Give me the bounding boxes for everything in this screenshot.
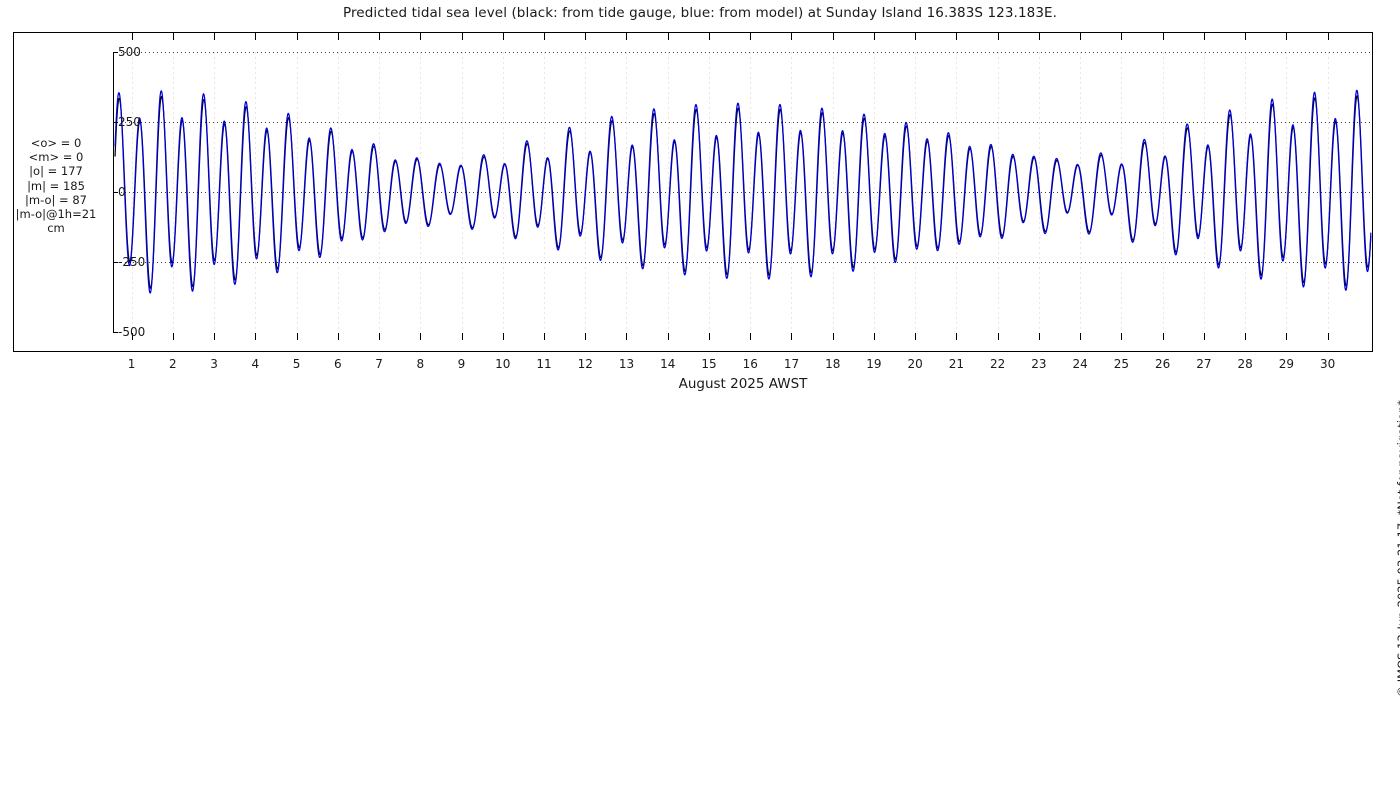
x-tick-mark (503, 333, 504, 340)
copyright-notice: © IMOS 13-Jun-2025 03:21:17. *Not for na… (1379, 0, 1399, 400)
x-tick-mark (1328, 333, 1329, 340)
x-tick-mark-top (915, 33, 916, 40)
x-tick-mark-top (998, 33, 999, 40)
x-tick-label: 4 (251, 357, 259, 371)
x-tick-mark (420, 333, 421, 340)
x-tick-mark (668, 333, 669, 340)
x-tick-mark-top (874, 33, 875, 40)
x-tick-label: 27 (1196, 357, 1211, 371)
x-tick-mark (379, 333, 380, 340)
x-tick-mark-top (1080, 33, 1081, 40)
y-tick-label: 250 (118, 115, 141, 129)
x-tick-mark-top (750, 33, 751, 40)
y-tick-label: 500 (118, 45, 141, 59)
x-tick-mark-top (1163, 33, 1164, 40)
x-tick-mark-top (791, 33, 792, 40)
x-tick-mark (956, 333, 957, 340)
stat-line-mean-mod: <m> = 0 (0, 150, 112, 164)
x-tick-label: 16 (743, 357, 758, 371)
page-title: Predicted tidal sea level (black: from t… (0, 5, 1400, 21)
stat-line-abs-obs: |o| = 177 (0, 164, 112, 178)
y-tick-label: -250 (118, 255, 145, 269)
x-tick-mark-top (544, 33, 545, 40)
x-tick-mark (1121, 333, 1122, 340)
chart-page: Predicted tidal sea level (black: from t… (0, 0, 1400, 400)
x-tick-mark-top (255, 33, 256, 40)
x-tick-label: 13 (619, 357, 634, 371)
x-tick-mark-top (1245, 33, 1246, 40)
stat-line-abs-mod: |m| = 185 (0, 179, 112, 193)
x-tick-mark-top (297, 33, 298, 40)
x-tick-mark-top (132, 33, 133, 40)
x-tick-label: 5 (293, 357, 301, 371)
x-tick-label: 17 (784, 357, 799, 371)
x-tick-label: 14 (660, 357, 675, 371)
x-tick-mark-top (1204, 33, 1205, 40)
x-tick-label: 3 (210, 357, 218, 371)
x-tick-mark-top (1286, 33, 1287, 40)
x-tick-label: 30 (1320, 357, 1335, 371)
x-tick-label: 24 (1073, 357, 1088, 371)
x-tick-mark-top (1328, 33, 1329, 40)
stat-line-diff-1h: |m-o|@1h=21 (0, 207, 112, 221)
x-tick-mark (1039, 333, 1040, 340)
x-tick-mark (1204, 333, 1205, 340)
x-tick-mark (1163, 333, 1164, 340)
x-tick-label: 29 (1279, 357, 1294, 371)
x-tick-label: 21 (949, 357, 964, 371)
x-tick-label: 23 (1031, 357, 1046, 371)
x-tick-label: 8 (416, 357, 424, 371)
x-tick-mark-top (1039, 33, 1040, 40)
x-tick-mark-top (668, 33, 669, 40)
x-tick-mark (915, 333, 916, 340)
x-tick-label: 12 (578, 357, 593, 371)
x-tick-label: 15 (701, 357, 716, 371)
x-tick-mark (544, 333, 545, 340)
x-tick-mark (874, 333, 875, 340)
x-tick-mark (338, 333, 339, 340)
x-tick-label: 19 (866, 357, 881, 371)
x-tick-mark (214, 333, 215, 340)
x-tick-label: 1 (128, 357, 136, 371)
x-tick-label: 2 (169, 357, 177, 371)
stat-line-mean-obs: <o> = 0 (0, 136, 112, 150)
x-tick-mark-top (956, 33, 957, 40)
x-tick-mark-top (833, 33, 834, 40)
x-tick-label: 28 (1238, 357, 1253, 371)
x-tick-mark (1080, 333, 1081, 340)
stat-line-units: cm (0, 221, 112, 235)
x-tick-mark (833, 333, 834, 340)
plot-area (113, 52, 1373, 332)
x-tick-mark (462, 333, 463, 340)
x-tick-mark-top (585, 33, 586, 40)
x-tick-mark-top (462, 33, 463, 40)
x-tick-mark-top (338, 33, 339, 40)
y-tick-label: 0 (118, 185, 126, 199)
statistics-block: <o> = 0 <m> = 0 |o| = 177 |m| = 185 |m-o… (0, 136, 112, 235)
y-tick-label: -500 (118, 325, 145, 339)
x-tick-label: 26 (1155, 357, 1170, 371)
x-tick-mark-top (626, 33, 627, 40)
x-tick-label: 22 (990, 357, 1005, 371)
x-tick-mark-top (709, 33, 710, 40)
x-tick-mark (1245, 333, 1246, 340)
x-tick-label: 25 (1114, 357, 1129, 371)
x-tick-mark (998, 333, 999, 340)
x-tick-label: 7 (375, 357, 383, 371)
x-tick-label: 9 (458, 357, 466, 371)
x-tick-label: 20 (908, 357, 923, 371)
x-tick-mark (626, 333, 627, 340)
x-tick-mark-top (214, 33, 215, 40)
x-tick-mark-top (173, 33, 174, 40)
tidal-series-canvas (113, 52, 1373, 332)
x-tick-label: 10 (495, 357, 510, 371)
x-tick-mark (297, 333, 298, 340)
x-tick-mark (255, 333, 256, 340)
x-tick-label: 18 (825, 357, 840, 371)
x-tick-mark-top (503, 33, 504, 40)
x-tick-mark (791, 333, 792, 340)
copyright-text: © IMOS 13-Jun-2025 03:21:17. *Not for na… (1395, 400, 1400, 800)
x-tick-mark-top (420, 33, 421, 40)
x-tick-mark-top (1121, 33, 1122, 40)
x-tick-mark (585, 333, 586, 340)
x-tick-mark (173, 333, 174, 340)
x-tick-mark-top (379, 33, 380, 40)
x-tick-label: 6 (334, 357, 342, 371)
x-tick-mark (709, 333, 710, 340)
x-tick-label: 11 (536, 357, 551, 371)
stat-line-abs-diff: |m-o| = 87 (0, 193, 112, 207)
x-tick-mark (750, 333, 751, 340)
x-axis-title: August 2025 AWST (113, 376, 1373, 392)
x-tick-mark (1286, 333, 1287, 340)
